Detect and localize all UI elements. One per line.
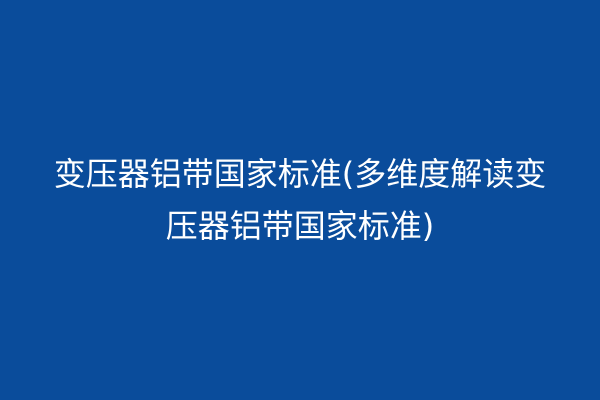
title-block: 变压器铝带国家标准(多维度解读变压器铝带国家标准) bbox=[50, 148, 550, 252]
title-banner: 变压器铝带国家标准(多维度解读变压器铝带国家标准) bbox=[0, 0, 600, 400]
page-title: 变压器铝带国家标准(多维度解读变压器铝带国家标准) bbox=[50, 148, 550, 252]
